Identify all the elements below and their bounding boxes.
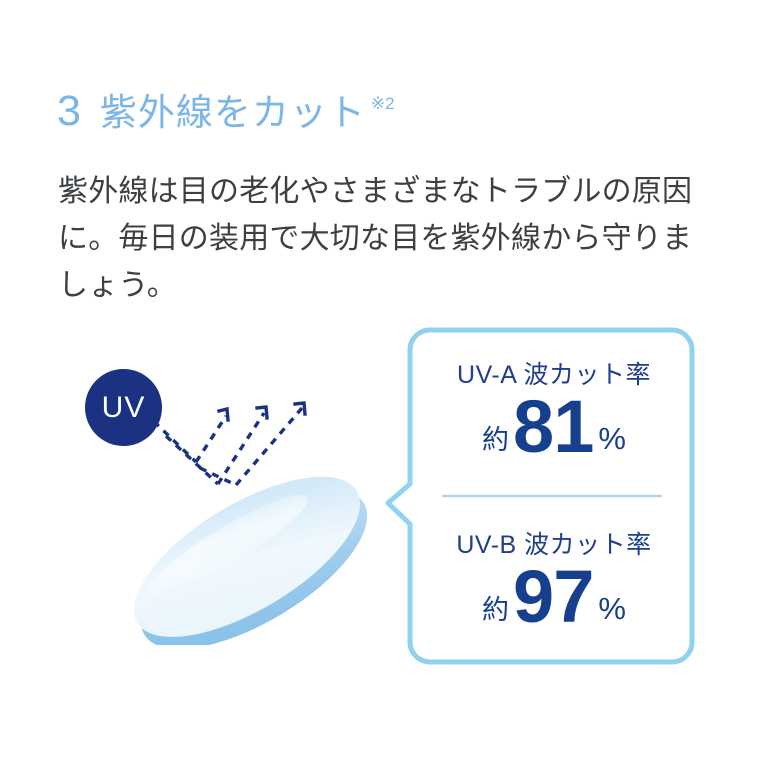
stat-approx-uv-a: 約 xyxy=(482,427,509,454)
stat-uv-b: UV-B 波カット率 約 97 % xyxy=(412,496,696,666)
stat-number-uv-a: 81 xyxy=(513,390,593,464)
contact-lens-icon xyxy=(120,470,380,645)
section-title-text: 紫外線をカット xyxy=(100,94,366,131)
section-body-text: 紫外線は目の老化やさまざまなトラブルの原因に。毎日の装用で大切な目を紫外線から守… xyxy=(58,168,718,309)
stat-approx-uv-b: 約 xyxy=(482,597,509,624)
uv-cut-feature-panel: 3 紫外線をカット ※2 紫外線は目の老化やさまざまなトラブルの原因に。毎日の装… xyxy=(0,0,770,770)
stat-value-uv-a: 約 81 % xyxy=(482,390,626,464)
uv-badge-label: UV xyxy=(102,393,146,423)
stat-unit-uv-b: % xyxy=(598,593,626,624)
page-title: 3 紫外線をカット ※2 xyxy=(57,90,395,133)
stat-label-uv-b: UV-B 波カット率 xyxy=(456,533,651,558)
uv-cut-rate-callout: UV-A 波カット率 約 81 % UV-B 波カット率 約 97 % xyxy=(384,326,696,666)
stat-label-uv-a: UV-A 波カット率 xyxy=(457,363,651,388)
stat-unit-uv-a: % xyxy=(598,423,626,454)
section-number: 3 xyxy=(57,90,81,133)
stat-value-uv-b: 約 97 % xyxy=(482,560,626,634)
footnote-marker: ※2 xyxy=(371,95,395,112)
stat-number-uv-b: 97 xyxy=(513,560,593,634)
stat-uv-a: UV-A 波カット率 約 81 % xyxy=(412,326,696,496)
